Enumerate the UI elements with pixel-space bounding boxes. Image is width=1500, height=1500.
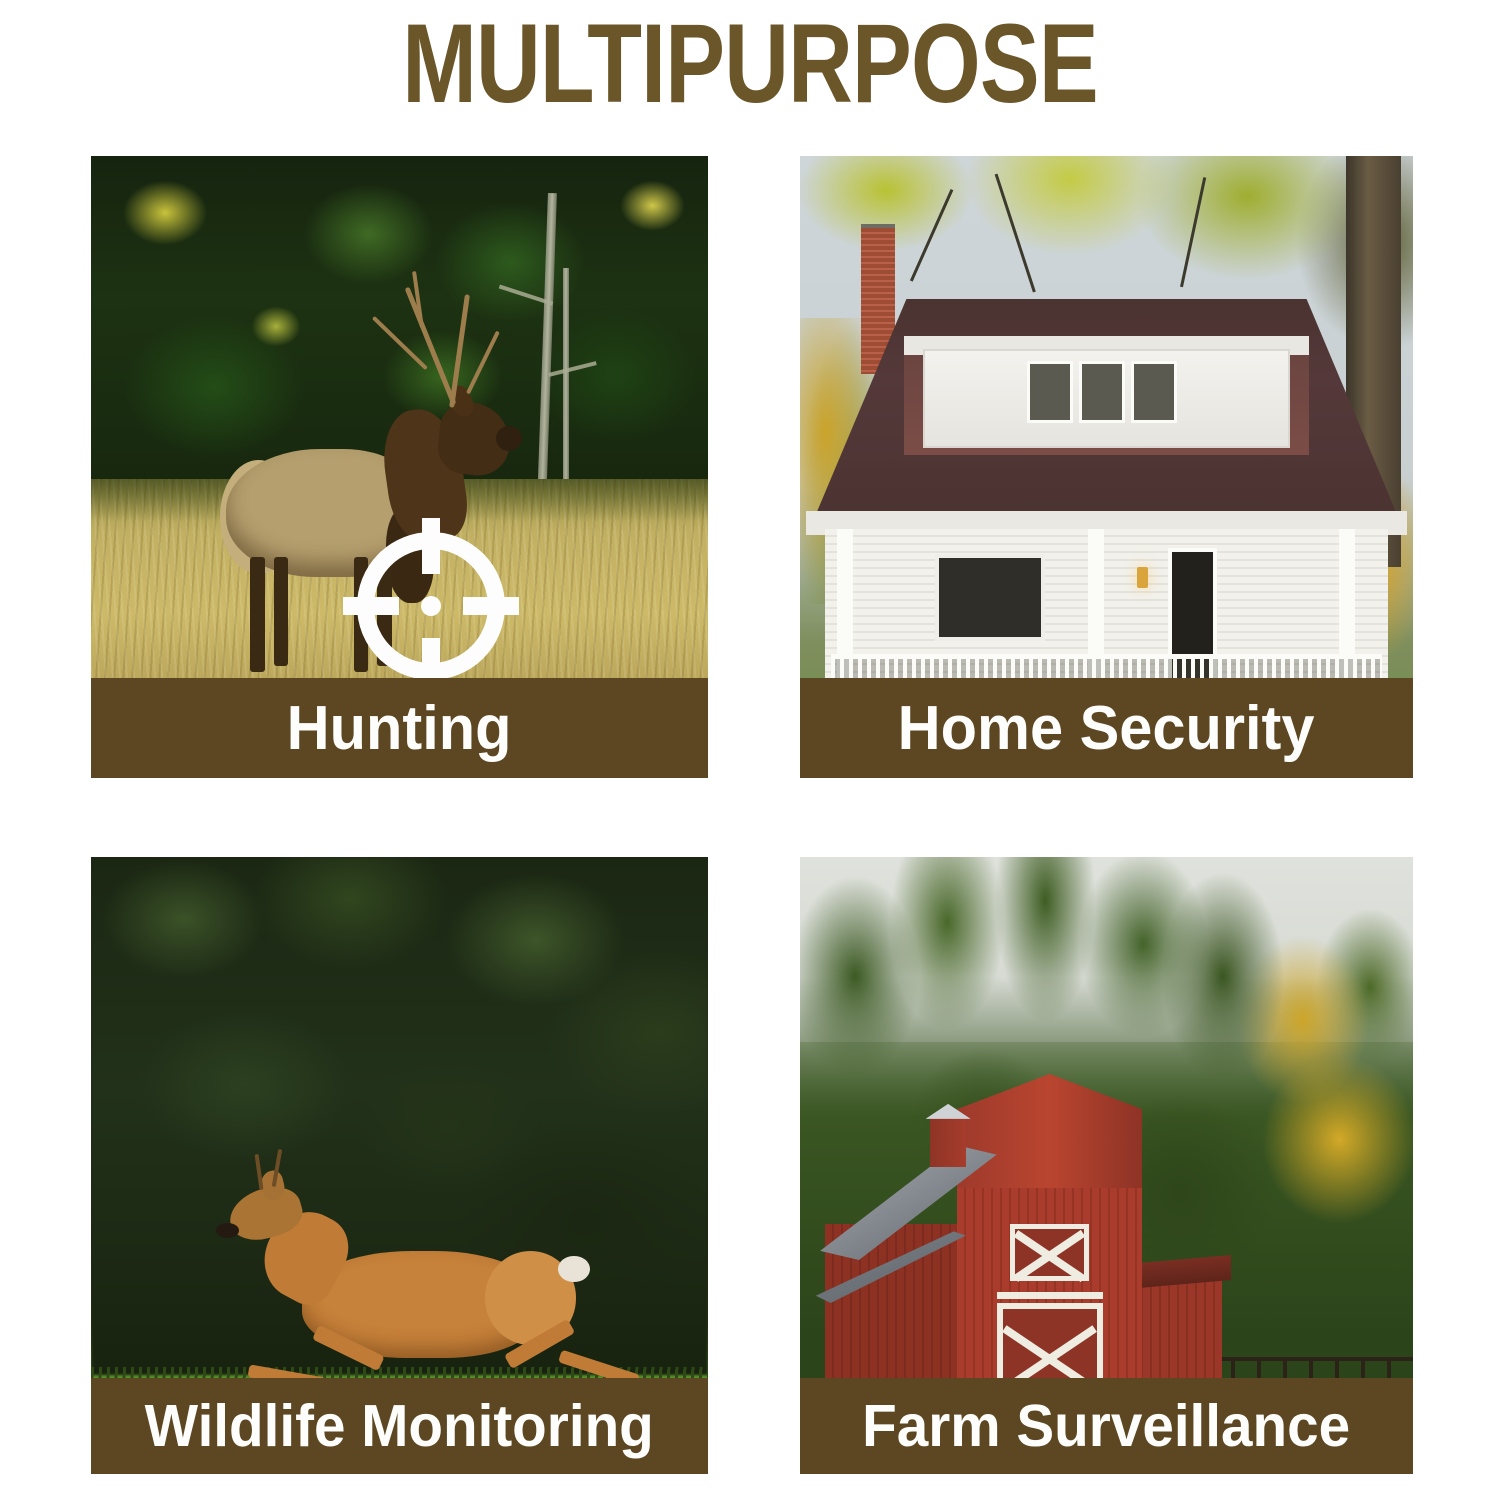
card-caption-label: Home Security — [898, 693, 1315, 764]
reticle-tick-left — [343, 597, 399, 615]
card-caption-bar: Farm Surveillance — [800, 1378, 1413, 1474]
door-header-trim — [997, 1292, 1103, 1299]
porch-light-icon — [1137, 567, 1148, 588]
feature-card-farm-surveillance[interactable]: Farm Surveillance — [800, 857, 1413, 1474]
upper-window — [1079, 361, 1125, 423]
card-caption-bar: Hunting — [91, 678, 708, 778]
x-brace-icon — [1015, 1229, 1084, 1276]
elk-leg — [274, 557, 289, 666]
feature-card-home-security[interactable]: Home Security — [800, 156, 1413, 778]
page-title: MULTIPURPOSE — [150, 8, 1350, 120]
reticle-center-dot — [421, 596, 441, 616]
deer-tail — [558, 1256, 590, 1283]
feature-card-wildlife-monitoring[interactable]: Wildlife Monitoring — [91, 857, 708, 1474]
porch-window — [935, 554, 1045, 641]
card-caption-label: Farm Surveillance — [863, 1392, 1351, 1460]
deer-nose — [216, 1223, 239, 1239]
red-barn — [825, 1067, 1266, 1425]
upper-window — [1027, 361, 1073, 423]
barn-cupola — [930, 1117, 965, 1167]
upper-window — [1131, 361, 1177, 423]
barn-hayloft-door — [1010, 1224, 1089, 1281]
card-caption-label: Wildlife Monitoring — [145, 1392, 654, 1460]
card-caption-bar: Wildlife Monitoring — [91, 1378, 708, 1474]
card-caption-bar: Home Security — [800, 678, 1413, 778]
card-caption-label: Hunting — [287, 693, 512, 764]
multipurpose-feature-panel: MULTIPURPOSE — [0, 0, 1500, 1500]
feature-card-hunting[interactable]: Hunting — [91, 156, 708, 778]
reticle-tick-top — [422, 518, 440, 574]
crosshair-reticle-icon — [343, 518, 519, 694]
elk-leg — [250, 557, 265, 671]
reticle-tick-right — [463, 597, 519, 615]
